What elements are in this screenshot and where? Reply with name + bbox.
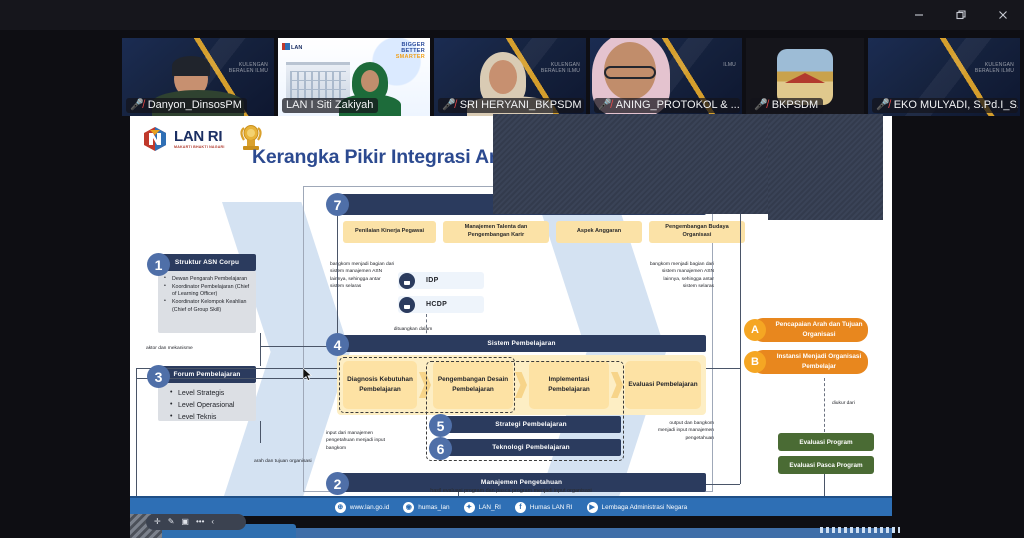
- step-number-3: 3: [147, 365, 170, 388]
- annotation-bangkom-left: bangkom menjadi bagian dari sistem manaj…: [330, 261, 396, 290]
- struktur-asn-bar[interactable]: Struktur ASN Corpu: [158, 254, 256, 271]
- footer-label: Humas LAN RI: [530, 504, 573, 511]
- minimize-button[interactable]: [898, 0, 940, 30]
- document-label: IDP: [426, 277, 439, 284]
- avatar: [777, 49, 833, 105]
- lanri-logo-icon: LAN: [282, 42, 304, 51]
- footer-item-facebook[interactable]: f Humas LAN RI: [515, 502, 573, 513]
- lanri-logo: LAN RI MAKARTI BHAKTI NAGARI: [142, 126, 225, 152]
- participant-name: 🎤̸ SRI HERYANI_BKPSDM: [438, 98, 584, 113]
- face-shape: [361, 70, 379, 92]
- restore-button[interactable]: [940, 0, 982, 30]
- stage-3[interactable]: Evaluasi Pembelajaran: [625, 361, 701, 409]
- facebook-icon: f: [515, 502, 526, 513]
- forum-pembelajaran-list: Level Strategis Level Operasional Level …: [158, 383, 256, 421]
- footer-item-twitter[interactable]: ✦ LAN_RI: [464, 502, 501, 513]
- mic-off-icon: 🎤̸: [876, 100, 890, 111]
- footer-label: www.lan.go.id: [350, 504, 389, 511]
- connector-line: [136, 368, 137, 500]
- youtube-icon: ▶: [587, 502, 598, 513]
- outcome-label: Instansi Menjadi Organisasi Pembelajar: [770, 352, 868, 371]
- document-icon: [399, 273, 415, 289]
- sistem-pembelajaran-bar[interactable]: Sistem Pembelajaran: [337, 335, 706, 352]
- step-number-1: 1: [147, 253, 170, 276]
- instagram-icon: ◉: [403, 502, 414, 513]
- hair-shape: [172, 56, 210, 76]
- evaluasi-program[interactable]: Evaluasi Program: [778, 433, 874, 451]
- footer-label: humas_lan: [418, 504, 449, 511]
- document-label: HCDP: [426, 301, 447, 308]
- globe-icon: ⊕: [335, 502, 346, 513]
- annotation-output-bangkom: output dan bangkom menjadi input manajem…: [654, 420, 714, 442]
- tile-watermark: KULENGANBERALEN ILMU: [975, 62, 1014, 74]
- mouse-cursor: [303, 368, 312, 383]
- participant-tile-2[interactable]: KULENGANBERALEN ILMU 🎤̸ SRI HERYANI_BKPS…: [434, 38, 586, 116]
- participant-tile-0[interactable]: KULENGANBERALEN ILMU 🎤̸ Danyon_DinsosPM: [122, 38, 274, 116]
- document-idp[interactable]: IDP: [398, 272, 484, 289]
- footer-item-youtube[interactable]: ▶ Lembaga Administrasi Negara: [587, 502, 688, 513]
- participant-tile-3[interactable]: ILMU 🎤̸ ANING_PROTOKOL & ...: [590, 38, 742, 116]
- taskbar-strip-right: [296, 528, 892, 538]
- list-item: Koordinator Kelompok Keahlian (Chief of …: [164, 299, 252, 314]
- mic-off-icon: 🎤̸: [130, 100, 144, 111]
- connector-line: [260, 421, 261, 443]
- annotation-toolbar[interactable]: ✛ ✎ ▣ ••• ‹: [146, 514, 246, 530]
- footer-item-website[interactable]: ⊕ www.lan.go.id: [335, 502, 389, 513]
- tile-watermark: ILMU: [723, 62, 736, 68]
- connector-line: [706, 368, 740, 369]
- connector-dashed-outcome: [824, 378, 825, 432]
- connector-line: [740, 204, 741, 484]
- app-window: KULENGANBERALEN ILMU 🎤̸ Danyon_DinsosPM …: [0, 0, 1024, 538]
- annotation-arah-tujuan: arah dan tujuan organisasi: [254, 458, 314, 465]
- participant-tile-5[interactable]: KULENGANBERALEN ILMU 🎤̸ EKO MULYADI, S.P…: [868, 38, 1020, 116]
- mic-off-icon: 🎤̸: [598, 100, 612, 111]
- avatar: [489, 60, 517, 94]
- footer-label: LAN_RI: [479, 504, 501, 511]
- tile-watermark: KULENGANBERALEN ILMU: [541, 62, 580, 74]
- integrasi-item-0[interactable]: Penilaian Kinerja Pegawai: [343, 221, 436, 243]
- glasses-icon: [604, 66, 656, 79]
- connector-line: [706, 484, 740, 485]
- annotation-diukur-dari: diukur dari: [832, 400, 882, 407]
- building-graphic: [286, 62, 350, 100]
- participant-filmstrip: KULENGANBERALEN ILMU 🎤̸ Danyon_DinsosPM …: [122, 38, 904, 116]
- annotation-input-manajemen: input dari manajemen pengetahuan menjadi…: [326, 430, 388, 452]
- participant-name: 🎤̸ BKPSDM: [750, 98, 823, 113]
- outcome-a[interactable]: A Pencapaian Arah dan Tujuan Organisasi: [752, 318, 868, 342]
- svg-text:LAN: LAN: [291, 45, 302, 51]
- list-item: Level Teknis: [170, 412, 252, 424]
- lanri-logo-icon: [142, 126, 168, 152]
- highlight-tool-icon[interactable]: ✛: [154, 518, 161, 526]
- collapse-tool-icon[interactable]: ‹: [211, 518, 214, 526]
- tagline: BIGGER BETTER SMARTER: [396, 43, 425, 60]
- evaluasi-pasca-program[interactable]: Evaluasi Pasca Program: [778, 456, 874, 474]
- footer-item-instagram[interactable]: ◉ humas_lan: [403, 502, 449, 513]
- participant-name: LAN I Siti Zakiyah: [282, 98, 378, 113]
- lanri-logo-text: LAN RI MAKARTI BHAKTI NAGARI: [174, 129, 225, 150]
- participant-tile-1-active[interactable]: LAN BIGGER BETTER SMARTER LAN I Siti Zak…: [278, 38, 430, 116]
- outcome-label: Pencapaian Arah dan Tujuan Organisasi: [770, 320, 868, 339]
- outcome-b[interactable]: B Instansi Menjadi Organisasi Pembelajar: [752, 350, 868, 374]
- more-tool-icon[interactable]: •••: [196, 518, 204, 526]
- mic-off-icon: 🎤̸: [754, 100, 768, 111]
- diagram-caption: hasil evaluasi program dan pasca program…: [130, 488, 892, 494]
- connector-line: [337, 215, 338, 335]
- tile-watermark: KULENGANBERALEN ILMU: [229, 62, 268, 74]
- step-number-7: 7: [326, 193, 349, 216]
- slide-footer: ⊕ www.lan.go.id ◉ humas_lan ✦ LAN_RI f H…: [130, 496, 892, 516]
- participant-name: 🎤̸ EKO MULYADI, S.Pd.I_S...: [872, 98, 1018, 113]
- struktur-asn-list: Dewan Pengarah Pembelajaran Koordinator …: [158, 271, 256, 333]
- teknologi-pembelajaran-bar[interactable]: Teknologi Pembelajaran: [441, 439, 621, 456]
- overlay-panel-secondary: [768, 114, 883, 220]
- document-hcdp[interactable]: HCDP: [398, 296, 484, 313]
- close-button[interactable]: [982, 0, 1024, 30]
- pen-tool-icon[interactable]: ✎: [168, 518, 175, 526]
- participant-name: 🎤̸ Danyon_DinsosPM: [126, 98, 247, 113]
- list-item: Koordinator Pembelajaran (Chief of Learn…: [164, 284, 252, 299]
- participant-tile-4[interactable]: 🎤̸ BKPSDM: [746, 38, 864, 116]
- eraser-tool-icon[interactable]: ▣: [181, 518, 189, 526]
- step-number-2: 2: [326, 472, 349, 495]
- annotation-dituangkan: dituangkan dalam: [378, 326, 448, 333]
- list-item: Level Strategis: [170, 388, 252, 400]
- step-number-5: 5: [429, 414, 452, 437]
- annotation-bangkom-right: bangkom menjadi bagian dari sistem manaj…: [648, 261, 714, 290]
- integrasi-item-1[interactable]: Manajemen Talenta dan Pengembangan Karir: [443, 221, 549, 243]
- connector-line: [260, 333, 261, 366]
- document-icon: [399, 297, 415, 313]
- window-titlebar: [0, 0, 1024, 30]
- mic-off-icon: 🎤̸: [442, 100, 456, 111]
- step-number-6: 6: [429, 437, 452, 460]
- list-item: Level Operasional: [170, 400, 252, 412]
- diagram-canvas: 7 Integrasi Sistem Penilaian Kinerja Peg…: [130, 178, 892, 516]
- integrasi-item-2[interactable]: Aspek Anggaran: [556, 221, 642, 243]
- participant-name: 🎤̸ ANING_PROTOKOL & ...: [594, 98, 740, 113]
- list-item: Dewan Pengarah Pembelajaran: [164, 276, 252, 284]
- dotted-decoration: [820, 527, 900, 533]
- outcome-letter: B: [744, 351, 766, 373]
- footer-label: Lembaga Administrasi Negara: [602, 504, 688, 511]
- step-number-4: 4: [326, 333, 349, 356]
- outcome-letter: A: [744, 319, 766, 341]
- strategi-pembelajaran-bar[interactable]: Strategi Pembelajaran: [441, 416, 621, 433]
- annotation-aktor: aktor dan mekanisme: [146, 345, 236, 352]
- twitter-icon: ✦: [464, 502, 475, 513]
- integrasi-item-3[interactable]: Pengembangan Budaya Organisasi: [649, 221, 745, 243]
